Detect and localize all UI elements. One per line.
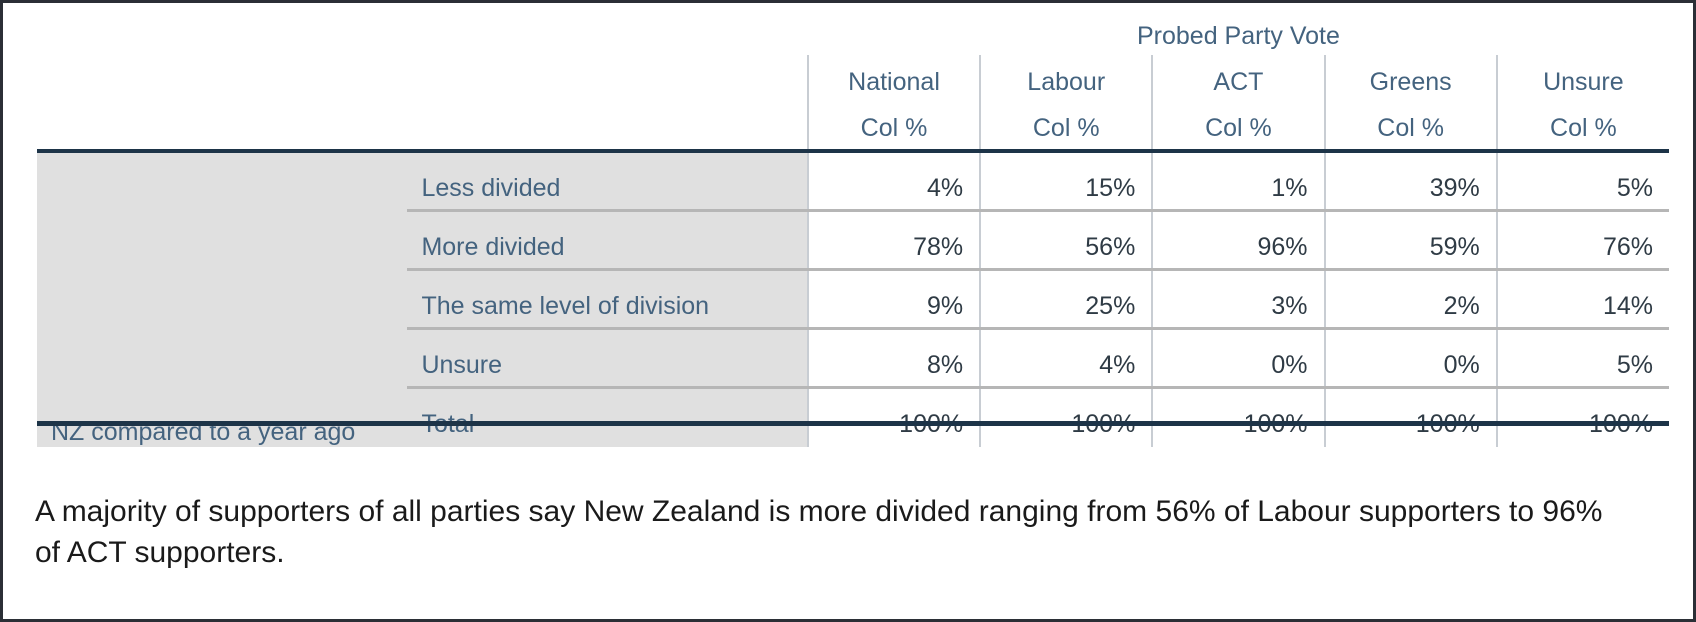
column-header-labour[interactable]: Labour bbox=[980, 55, 1152, 99]
cell-total-national: 100% bbox=[808, 388, 980, 448]
table-row: NZ compared to a year ago Less divided 4… bbox=[37, 151, 1669, 211]
page-root: Probed Party Vote National Labour ACT Gr… bbox=[0, 0, 1696, 622]
cell-unsure-greens: 0% bbox=[1325, 329, 1497, 388]
row-label-total: Total bbox=[407, 388, 807, 448]
summary-caption: A majority of supporters of all parties … bbox=[35, 491, 1635, 573]
cell-same-level-unsure: 14% bbox=[1497, 270, 1669, 329]
cell-more-divided-national: 78% bbox=[808, 211, 980, 270]
column-header-national[interactable]: National bbox=[808, 55, 980, 99]
column-subheader-act: Col % bbox=[1152, 99, 1324, 151]
column-header-act[interactable]: ACT bbox=[1152, 55, 1324, 99]
colsub-blank-cat bbox=[407, 99, 807, 151]
colname-blank-cat bbox=[407, 55, 807, 99]
cell-total-act: 100% bbox=[1152, 388, 1324, 448]
cell-less-divided-greens: 39% bbox=[1325, 151, 1497, 211]
row-label-same-level: The same level of division bbox=[407, 270, 807, 329]
cell-same-level-greens: 2% bbox=[1325, 270, 1497, 329]
cell-unsure-labour: 4% bbox=[980, 329, 1152, 388]
cell-same-level-labour: 25% bbox=[980, 270, 1152, 329]
table-bottom-rule bbox=[37, 421, 1669, 426]
column-subheader-unsure: Col % bbox=[1497, 99, 1669, 151]
cell-less-divided-labour: 15% bbox=[980, 151, 1152, 211]
row-label-more-divided: More divided bbox=[407, 211, 807, 270]
row-variable-label: NZ compared to a year ago bbox=[37, 151, 407, 447]
colname-blank-var bbox=[37, 55, 407, 99]
cell-more-divided-greens: 59% bbox=[1325, 211, 1497, 270]
crosstab-container: Probed Party Vote National Labour ACT Gr… bbox=[37, 11, 1669, 447]
column-subheader-greens: Col % bbox=[1325, 99, 1497, 151]
column-header-greens[interactable]: Greens bbox=[1325, 55, 1497, 99]
spanner-blank-var bbox=[37, 11, 407, 55]
cell-less-divided-unsure: 5% bbox=[1497, 151, 1669, 211]
cell-unsure-unsure: 5% bbox=[1497, 329, 1669, 388]
row-label-unsure: Unsure bbox=[407, 329, 807, 388]
cell-less-divided-national: 4% bbox=[808, 151, 980, 211]
cell-more-divided-unsure: 76% bbox=[1497, 211, 1669, 270]
cell-same-level-act: 3% bbox=[1152, 270, 1324, 329]
row-label-less-divided: Less divided bbox=[407, 151, 807, 211]
header-names-row: National Labour ACT Greens Unsure bbox=[37, 55, 1669, 99]
table-header: Probed Party Vote National Labour ACT Gr… bbox=[37, 11, 1669, 151]
cell-total-unsure: 100% bbox=[1497, 388, 1669, 448]
column-header-unsure[interactable]: Unsure bbox=[1497, 55, 1669, 99]
colsub-blank-var bbox=[37, 99, 407, 151]
cell-total-labour: 100% bbox=[980, 388, 1152, 448]
cell-unsure-national: 8% bbox=[808, 329, 980, 388]
column-subheader-national: Col % bbox=[808, 99, 980, 151]
table-body: NZ compared to a year ago Less divided 4… bbox=[37, 151, 1669, 447]
cell-less-divided-act: 1% bbox=[1152, 151, 1324, 211]
crosstab-table: Probed Party Vote National Labour ACT Gr… bbox=[37, 11, 1669, 447]
cell-more-divided-labour: 56% bbox=[980, 211, 1152, 270]
cell-same-level-national: 9% bbox=[808, 270, 980, 329]
column-subheader-labour: Col % bbox=[980, 99, 1152, 151]
cell-total-greens: 100% bbox=[1325, 388, 1497, 448]
column-group-title: Probed Party Vote bbox=[808, 11, 1669, 55]
cell-more-divided-act: 96% bbox=[1152, 211, 1324, 270]
header-subnames-row: Col % Col % Col % Col % Col % bbox=[37, 99, 1669, 151]
spanner-blank-cat bbox=[407, 11, 807, 55]
cell-unsure-act: 0% bbox=[1152, 329, 1324, 388]
header-spanner-row: Probed Party Vote bbox=[37, 11, 1669, 55]
